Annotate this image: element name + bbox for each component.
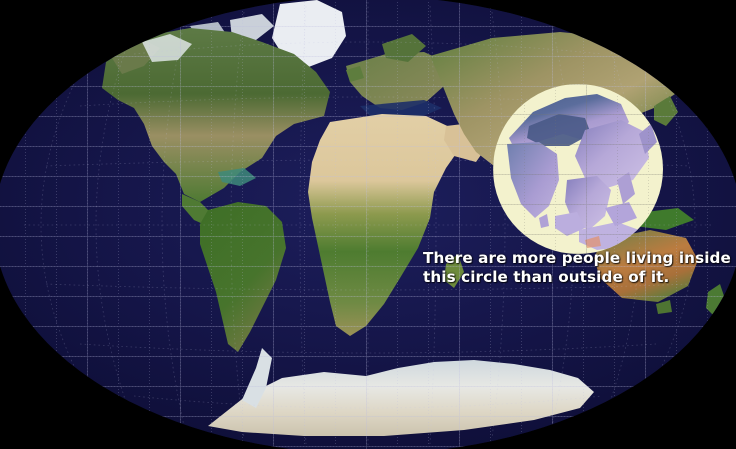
caption-text: There are more people living inside this… <box>423 249 733 287</box>
circle-graticule <box>493 84 663 254</box>
world-map-infographic: There are more people living inside this… <box>0 0 736 449</box>
valeriepieris-circle <box>493 84 663 254</box>
